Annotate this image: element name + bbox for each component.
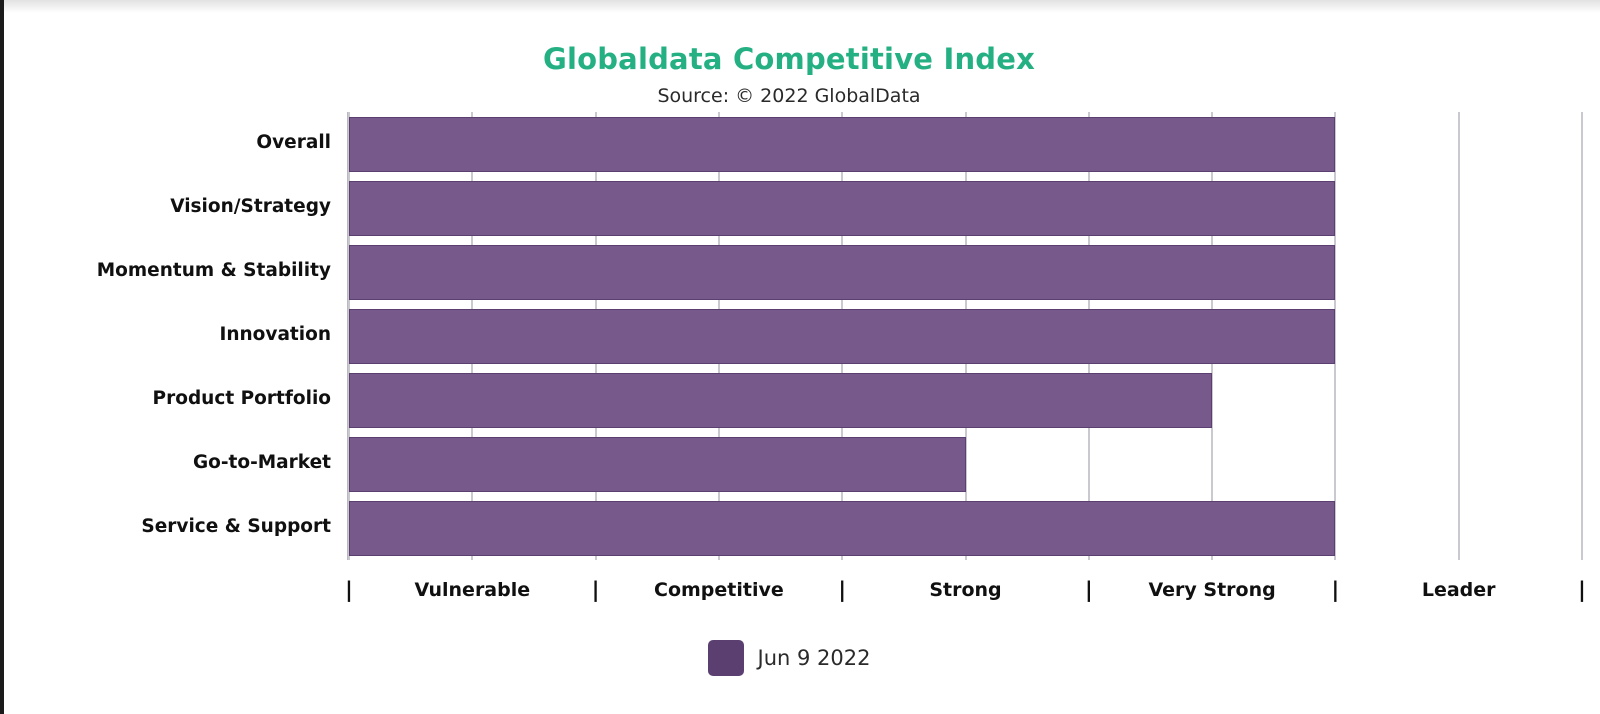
chart-title: Globaldata Competitive Index bbox=[4, 42, 1574, 76]
x-axis-band-label: Vulnerable bbox=[414, 576, 530, 604]
y-axis-label: Overall bbox=[4, 132, 331, 153]
window-top-strip bbox=[4, 0, 1600, 13]
bar-row bbox=[349, 245, 1582, 300]
y-axis-label: Momentum & Stability bbox=[4, 260, 331, 281]
bar-row bbox=[349, 437, 1582, 492]
plot-area bbox=[349, 112, 1582, 560]
x-axis-separator: | bbox=[592, 576, 600, 604]
x-axis-band-label: Strong bbox=[929, 576, 1001, 604]
y-axis-labels: OverallVision/StrategyMomentum & Stabili… bbox=[4, 112, 331, 560]
bar-row bbox=[349, 373, 1582, 428]
y-axis-label: Vision/Strategy bbox=[4, 196, 331, 217]
x-axis-separator: | bbox=[1578, 576, 1586, 604]
x-axis-separator: | bbox=[345, 576, 353, 604]
chart-legend: Jun 9 2022 bbox=[4, 640, 1574, 676]
x-axis-band-label: Competitive bbox=[654, 576, 784, 604]
y-axis-label: Service & Support bbox=[4, 516, 331, 537]
x-axis-separator: | bbox=[1332, 576, 1340, 604]
bar[interactable] bbox=[349, 181, 1335, 236]
x-axis-separator: | bbox=[838, 576, 846, 604]
x-axis-separator: | bbox=[1085, 576, 1093, 604]
bar[interactable] bbox=[349, 437, 966, 492]
bar-row bbox=[349, 309, 1582, 364]
chart-page: Globaldata Competitive Index Source: © 2… bbox=[0, 0, 1600, 714]
bar-row bbox=[349, 501, 1582, 556]
bar[interactable] bbox=[349, 117, 1335, 172]
bar[interactable] bbox=[349, 309, 1335, 364]
bar-row bbox=[349, 117, 1582, 172]
y-axis-label: Go-to-Market bbox=[4, 452, 331, 473]
x-axis-labels: ||||||VulnerableCompetitiveStrongVery St… bbox=[4, 576, 1600, 612]
x-axis-band-label: Very Strong bbox=[1148, 576, 1275, 604]
bar-row bbox=[349, 181, 1582, 236]
y-axis-label: Product Portfolio bbox=[4, 388, 331, 409]
legend-swatch[interactable] bbox=[708, 640, 744, 676]
legend-label: Jun 9 2022 bbox=[758, 646, 871, 670]
bar[interactable] bbox=[349, 501, 1335, 556]
x-axis-band-label: Leader bbox=[1422, 576, 1496, 604]
y-axis-label: Innovation bbox=[4, 324, 331, 345]
bar[interactable] bbox=[349, 245, 1335, 300]
bar[interactable] bbox=[349, 373, 1212, 428]
chart-subtitle-source: Source: © 2022 GlobalData bbox=[4, 85, 1574, 107]
